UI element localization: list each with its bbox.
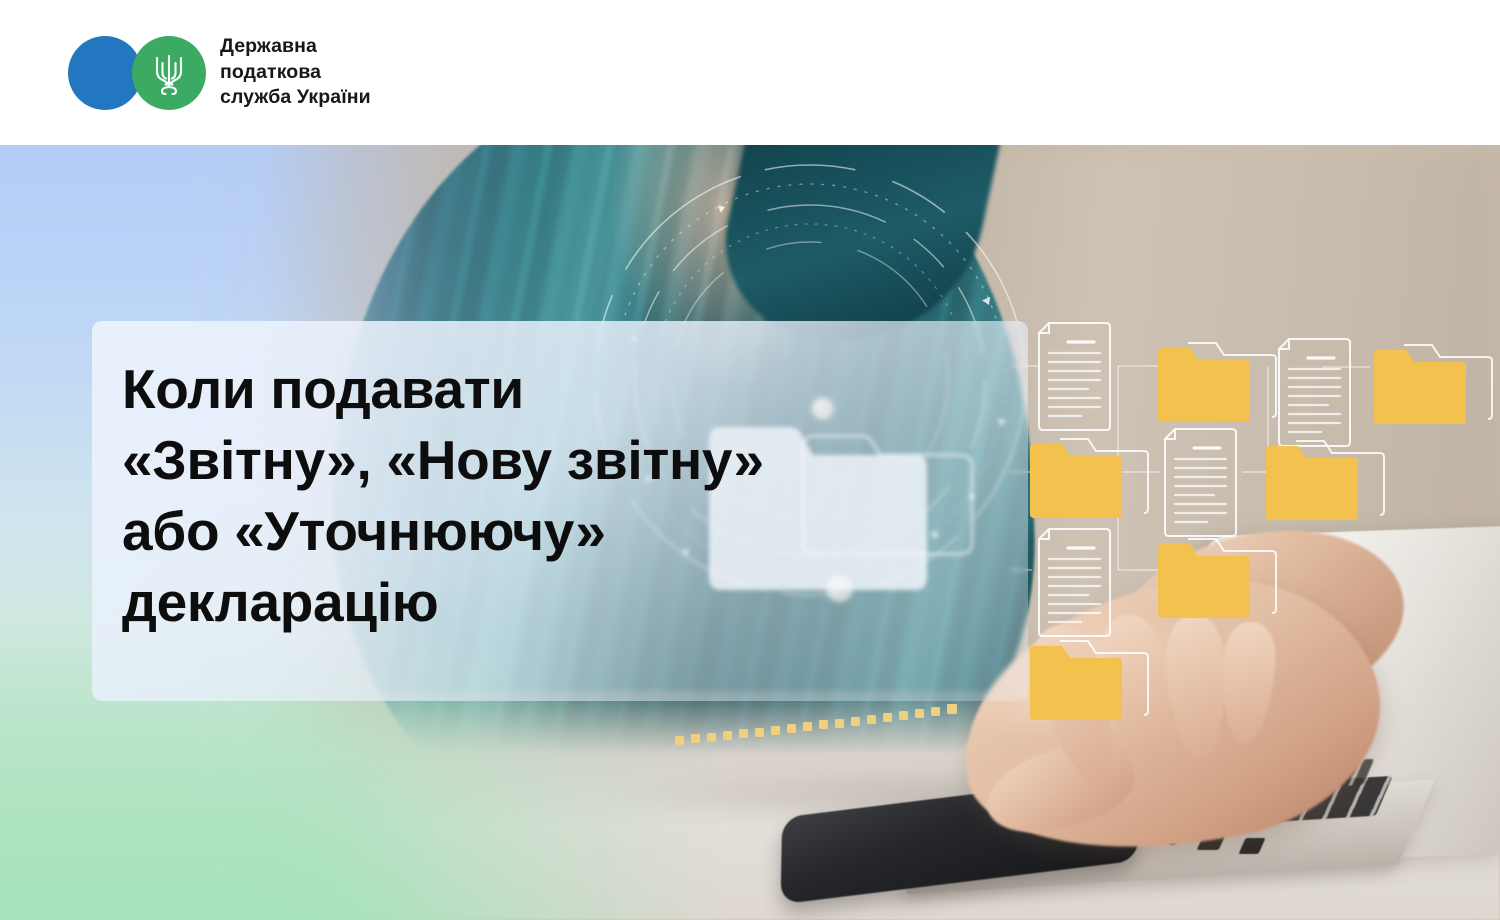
banner-canvas: Коли подавати «Звітну», «Нову звітну» аб…: [0, 0, 1500, 920]
logo-blue-circle: [68, 36, 142, 110]
page-title: Коли подавати «Звітну», «Нову звітну» аб…: [122, 354, 764, 638]
logo-green-circle: [132, 36, 206, 110]
ukraine-trident-icon: [152, 51, 186, 95]
site-header: Державна податкова служба України: [0, 0, 1500, 145]
logo-marks: [68, 36, 206, 110]
logo-organization-name: Державна податкова служба України: [220, 34, 371, 111]
logo[interactable]: Державна податкова служба України: [68, 34, 371, 111]
